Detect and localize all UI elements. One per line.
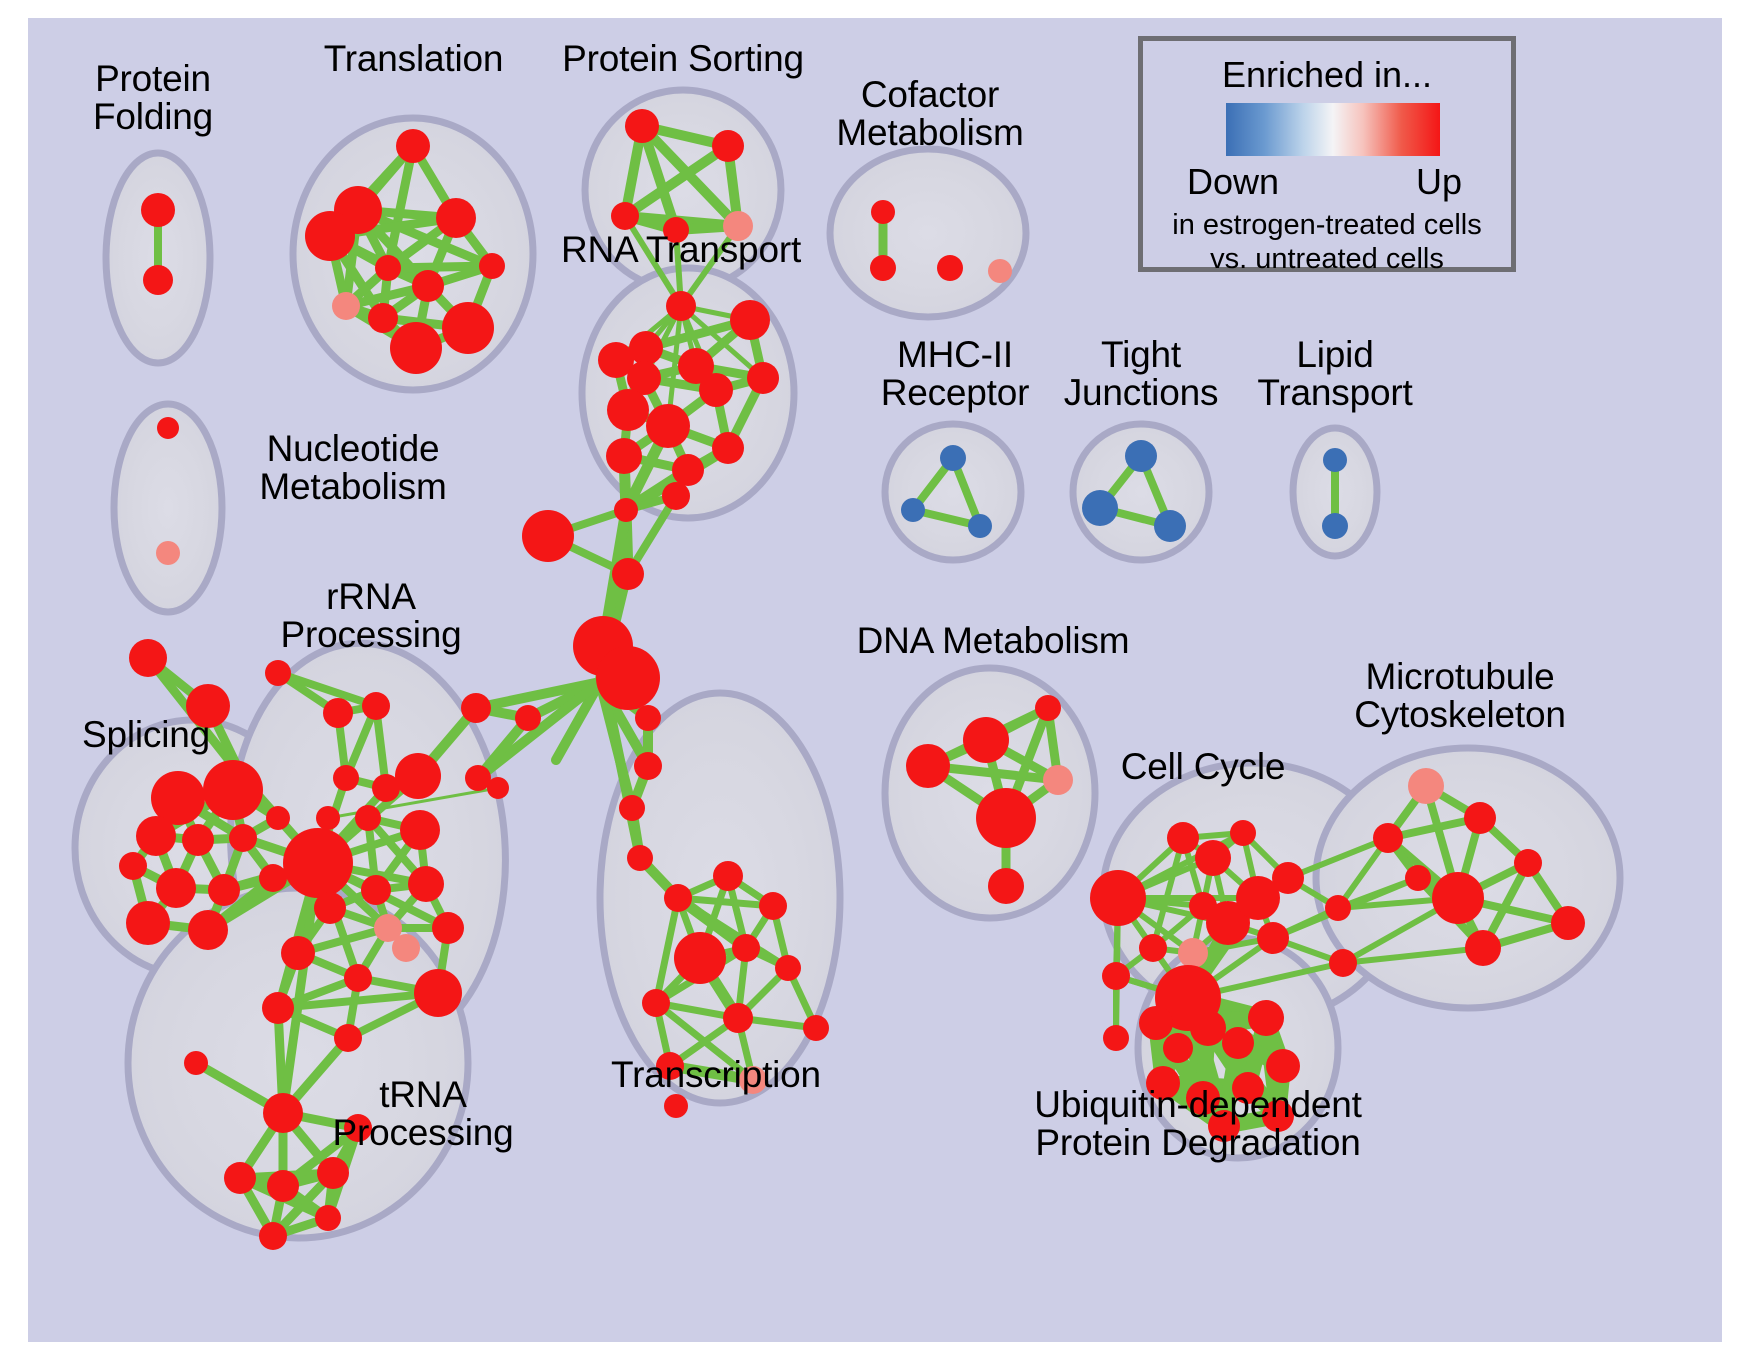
node [611, 202, 639, 230]
node [487, 777, 509, 799]
node [1232, 1072, 1264, 1104]
node [156, 541, 180, 565]
node [1103, 1025, 1129, 1051]
node [1102, 962, 1130, 990]
node [157, 417, 179, 439]
node [396, 129, 430, 163]
node [672, 454, 704, 486]
node [141, 193, 175, 227]
node [723, 211, 753, 241]
node [712, 130, 744, 162]
node [412, 270, 444, 302]
node [400, 810, 440, 850]
hull-mhc [885, 424, 1021, 560]
node [442, 302, 494, 354]
node [664, 1094, 688, 1118]
node [436, 198, 476, 238]
legend-box: Enriched in... Down Up in estrogen-treat… [1138, 36, 1516, 272]
node [362, 692, 390, 720]
node [316, 806, 340, 830]
node [629, 331, 663, 365]
node [1146, 1066, 1180, 1100]
node [1322, 513, 1348, 539]
node [314, 892, 346, 924]
node [614, 498, 638, 522]
node [730, 300, 770, 340]
node [479, 253, 505, 279]
node [263, 1093, 303, 1133]
legend-subtitle-line1: in estrogen-treated cells [1143, 209, 1511, 242]
node [344, 964, 372, 992]
node [262, 992, 294, 1024]
node [663, 217, 689, 243]
node [627, 845, 653, 871]
node [129, 639, 167, 677]
node [976, 788, 1036, 848]
node [634, 752, 662, 780]
node [203, 760, 263, 820]
node [775, 955, 801, 981]
node [332, 292, 360, 320]
node [1408, 768, 1444, 804]
node [1465, 930, 1501, 966]
node [940, 445, 966, 471]
node [1082, 490, 1118, 526]
node [355, 805, 381, 831]
node [184, 1051, 208, 1075]
node [265, 660, 291, 686]
node [1405, 865, 1431, 891]
node [1035, 695, 1061, 721]
node [937, 255, 963, 281]
node [642, 989, 670, 1017]
node [414, 969, 462, 1017]
node [968, 514, 992, 538]
node [334, 1024, 362, 1052]
node [901, 498, 925, 522]
network-plot-area: Protein Folding Translation Protein Sort… [28, 18, 1722, 1342]
node [1090, 870, 1146, 926]
node [1125, 440, 1157, 472]
node [664, 884, 692, 912]
node [1325, 895, 1351, 921]
node [1222, 1027, 1254, 1059]
node [619, 795, 645, 821]
node [1323, 448, 1347, 472]
legend-color-bar [1226, 103, 1440, 156]
hull-cofactor [830, 149, 1026, 317]
node [1266, 1049, 1300, 1083]
node [674, 932, 726, 984]
node [344, 1114, 372, 1142]
figure-canvas: Protein Folding Translation Protein Sort… [0, 0, 1750, 1360]
node [305, 211, 355, 261]
node [461, 693, 491, 723]
legend-low-label: Down [1187, 161, 1279, 203]
node [666, 291, 696, 321]
node [759, 892, 787, 920]
node [136, 816, 176, 856]
node [333, 765, 359, 791]
node [375, 255, 401, 281]
node [390, 322, 442, 374]
node [625, 109, 659, 143]
node [1190, 1010, 1226, 1046]
node [182, 824, 214, 856]
legend-title: Enriched in... [1143, 54, 1511, 96]
node [1208, 1110, 1240, 1142]
node [224, 1162, 256, 1194]
node [368, 303, 398, 333]
node [713, 861, 743, 891]
node [635, 705, 661, 731]
node [522, 510, 574, 562]
node [871, 200, 895, 224]
node [1262, 1100, 1294, 1132]
node [408, 866, 444, 902]
node [267, 1170, 299, 1202]
node [1139, 1006, 1173, 1040]
node [739, 1066, 767, 1094]
node [1167, 822, 1199, 854]
node [606, 438, 642, 474]
node [515, 705, 541, 731]
node [1432, 872, 1484, 924]
node [662, 482, 690, 510]
node [1373, 823, 1403, 853]
node [963, 717, 1009, 763]
node [803, 1015, 829, 1041]
node [1186, 1081, 1220, 1115]
legend-subtitle-line2: vs. untreated cells [1143, 243, 1511, 276]
node [1043, 765, 1073, 795]
node [126, 901, 170, 945]
node [732, 934, 760, 962]
node [229, 824, 257, 852]
node [208, 874, 240, 906]
node [1464, 802, 1496, 834]
node [1514, 849, 1542, 877]
node [323, 698, 353, 728]
node [259, 1222, 287, 1250]
node [607, 389, 649, 431]
node [1178, 938, 1208, 968]
node [1551, 906, 1585, 940]
node [1154, 510, 1186, 542]
node [317, 1157, 349, 1189]
node [188, 910, 228, 950]
node [712, 432, 744, 464]
node [315, 1205, 341, 1231]
node [656, 1052, 684, 1080]
node [1163, 1033, 1193, 1063]
node [392, 934, 420, 962]
node [870, 255, 896, 281]
node [1329, 949, 1357, 977]
node [988, 259, 1012, 283]
node [1230, 820, 1256, 846]
node [119, 852, 147, 880]
node [646, 404, 690, 448]
node [361, 875, 391, 905]
node [1257, 922, 1289, 954]
node [432, 912, 464, 944]
node [747, 362, 779, 394]
hull-protein-sorting [585, 90, 781, 290]
node [596, 646, 660, 710]
node [699, 373, 733, 407]
node [266, 806, 290, 830]
node [1248, 1000, 1284, 1036]
node [1195, 840, 1231, 876]
node [906, 744, 950, 788]
node [283, 828, 353, 898]
node [259, 864, 287, 892]
node [395, 753, 441, 799]
node [1272, 862, 1304, 894]
node [143, 265, 173, 295]
node [723, 1003, 753, 1033]
node [281, 936, 315, 970]
node [156, 868, 196, 908]
node [186, 684, 230, 728]
node [612, 558, 644, 590]
legend-high-label: Up [1416, 161, 1462, 203]
node [988, 868, 1024, 904]
node [1139, 934, 1167, 962]
